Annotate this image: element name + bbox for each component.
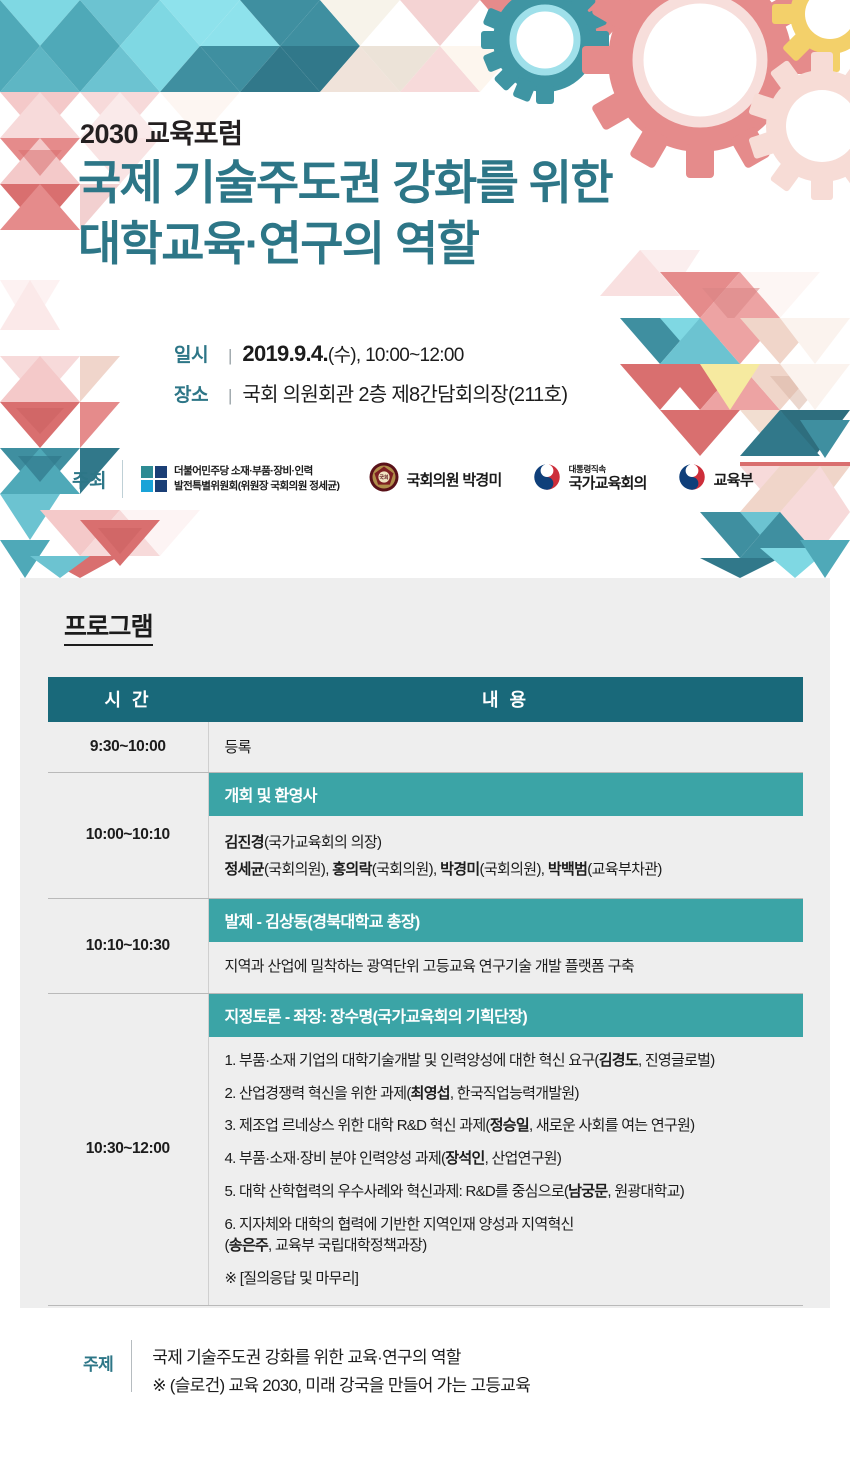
meta-label-venue: 장소	[174, 380, 220, 407]
meta-value-venue: 국회 의원회관 2층 제8간담회의장(211호)	[242, 378, 567, 407]
row-section-bar: 발제 - 김상동(경북대학교 총장)	[209, 899, 804, 942]
footer-label: 주제	[83, 1340, 113, 1375]
taegeuk-mark-icon	[677, 462, 707, 497]
organizer-item-national-education-council: 대통령직속 국가교육회의	[532, 462, 647, 497]
poster-root: 2030 교육포럼 국제 기술주도권 강화를 위한 대학교육·연구의 역할 일시…	[0, 0, 850, 1462]
row-line: 지역과 산업에 밀착하는 광역단위 고등교육 연구기술 개발 플랫폼 구축	[225, 955, 790, 978]
footer-text: 국제 기술주도권 강화를 위한 교육·연구의 역할 ※ (슬로건) 교육 203…	[152, 1340, 530, 1399]
row-time: 10:30~12:00	[48, 993, 208, 1305]
program-heading: 프로그램	[64, 614, 153, 646]
taegeuk-mark-icon	[532, 462, 562, 497]
program-table-body: 9:30~10:00 등록 10:00~10:10 개회 및 환영사 김진경(국…	[48, 722, 803, 1305]
organizer-label-ministry-of-education: 교육부	[714, 469, 753, 490]
footer-divider	[131, 1340, 132, 1392]
organizers-list: 더불어민주당 소재·부품·장비·인력 발전특별위원회(위원장 국회의원 정세균)…	[141, 462, 753, 497]
row-section-bar: 개회 및 환영사	[209, 773, 804, 816]
organizer-label-assembly-member: 국회의원 박경미	[406, 469, 501, 490]
svg-text:국회: 국회	[380, 474, 390, 481]
meta-row-venue: 장소 | 국회 의원회관 2층 제8간담회의장(211호)	[174, 378, 567, 407]
row-content: 개회 및 환영사 김진경(국가교육회의 의장) 정세균(국회의원), 홍의락(국…	[208, 773, 803, 899]
democratic-party-square-mark-icon	[141, 466, 167, 492]
organizer-label-national-education-council: 대통령직속 국가교육회의	[569, 465, 647, 492]
row-body: 지역과 산업에 밀착하는 광역단위 고등교육 연구기술 개발 플랫폼 구축	[209, 942, 804, 993]
table-row: 9:30~10:00 등록	[48, 722, 803, 773]
table-row: 10:10~10:30 발제 - 김상동(경북대학교 총장) 지역과 산업에 밀…	[48, 898, 803, 993]
row-text: 등록	[209, 722, 804, 772]
row-content: 발제 - 김상동(경북대학교 총장) 지역과 산업에 밀착하는 광역단위 고등교…	[208, 898, 803, 993]
table-row: 10:00~10:10 개회 및 환영사 김진경(국가교육회의 의장) 정세균(…	[48, 773, 803, 899]
discussion-item: 5. 대학 산학협력의 우수사례와 혁신과제: R&D를 중심으로(남궁문, 원…	[225, 1181, 790, 1203]
meta-row-date: 일시 | 2019.9.4.(수), 10:00~12:00	[174, 340, 567, 367]
meta-separator: |	[228, 386, 232, 406]
row-time: 10:00~10:10	[48, 773, 208, 899]
row-body: 김진경(국가교육회의 의장) 정세균(국회의원), 홍의락(국회의원), 박경미…	[209, 816, 804, 898]
national-assembly-emblem-icon: 국회	[369, 462, 399, 497]
row-content: 지정토론 - 좌장: 장수명(국가교육회의 기획단장) 1. 부품·소재 기업의…	[208, 993, 803, 1305]
organizers-block: 주최 더불어민주당 소재·부품·장비·인력 발전특별위원회(위원장 국회의원 정…	[72, 460, 753, 498]
page-title: 국제 기술주도권 강화를 위한 대학교육·연구의 역할	[78, 152, 612, 274]
discussion-item: 2. 산업경쟁력 혁신을 위한 과제(최영섭, 한국직업능력개발원)	[225, 1083, 790, 1105]
program-panel: 프로그램 시 간 내 용 9:30~10:00 등록 10:00~10:10	[20, 578, 830, 1308]
discussion-item: 3. 제조업 르네상스 위한 대학 R&D 혁신 과제(정승일, 새로운 사회를…	[225, 1115, 790, 1137]
discussion-item: 4. 부품·소재·장비 분야 인력양성 과제(장석인, 산업연구원)	[225, 1148, 790, 1170]
row-body: 1. 부품·소재 기업의 대학기술개발 및 인력양성에 대한 혁신 요구(김경도…	[209, 1037, 804, 1305]
organizers-label: 주최	[72, 466, 106, 493]
meta-value-date: 2019.9.4.(수), 10:00~12:00	[242, 340, 463, 367]
row-content: 등록	[208, 722, 803, 773]
organizer-item-ministry-of-education: 교육부	[677, 462, 753, 497]
row-line: 김진경(국가교육회의 의장)	[225, 831, 790, 854]
event-meta: 일시 | 2019.9.4.(수), 10:00~12:00 장소 | 국회 의…	[174, 340, 567, 418]
program-table: 시 간 내 용 9:30~10:00 등록 10:00~10:10 개회 및 환…	[48, 677, 803, 1306]
table-row: 10:30~12:00 지정토론 - 좌장: 장수명(국가교육회의 기획단장) …	[48, 993, 803, 1305]
organizer-label-democratic-party: 더불어민주당 소재·부품·장비·인력 발전특별위원회(위원장 국회의원 정세균)	[174, 464, 340, 494]
discussion-item: 1. 부품·소재 기업의 대학기술개발 및 인력양성에 대한 혁신 요구(김경도…	[225, 1050, 790, 1072]
row-time: 9:30~10:00	[48, 722, 208, 773]
hero-section: 2030 교육포럼 국제 기술주도권 강화를 위한 대학교육·연구의 역할 일시…	[0, 0, 850, 578]
table-header-row: 시 간 내 용	[48, 677, 803, 722]
hero-kicker: 2030 교육포럼	[80, 112, 242, 151]
row-section-bar: 지정토론 - 좌장: 장수명(국가교육회의 기획단장)	[209, 994, 804, 1037]
row-time: 10:10~10:30	[48, 898, 208, 993]
row-line: 정세균(국회의원), 홍의락(국회의원), 박경미(국회의원), 박백범(교육부…	[225, 858, 790, 881]
meta-separator: |	[228, 346, 232, 366]
organizer-item-assembly-member: 국회 국회의원 박경미	[369, 462, 501, 497]
discussion-closing-note: ※ [질의응답 및 마무리]	[225, 1268, 790, 1290]
discussion-item: 6. 지자체와 대학의 협력에 기반한 지역인재 양성과 지역혁신 (송은주, …	[225, 1214, 790, 1258]
column-header-content: 내 용	[208, 677, 803, 722]
column-header-time: 시 간	[48, 677, 208, 722]
organizers-divider	[122, 460, 123, 498]
meta-label-date: 일시	[174, 340, 220, 367]
organizer-item-democratic-party: 더불어민주당 소재·부품·장비·인력 발전특별위원회(위원장 국회의원 정세균)	[141, 464, 340, 494]
footer-topic: 주제 국제 기술주도권 강화를 위한 교육·연구의 역할 ※ (슬로건) 교육 …	[0, 1340, 850, 1399]
